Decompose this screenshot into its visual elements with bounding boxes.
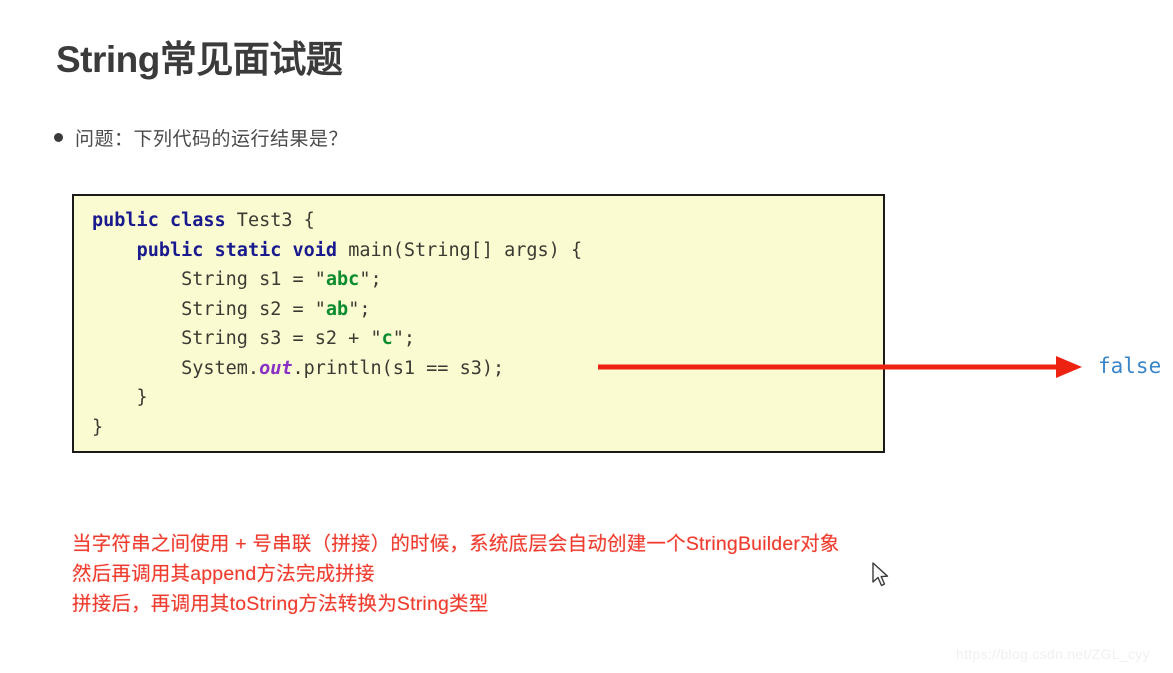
page-title: String常见面试题 — [56, 29, 342, 83]
code-token: } — [92, 387, 148, 408]
code-token: " — [359, 269, 370, 290]
result-output-label: false — [1098, 354, 1161, 378]
code-token: c — [382, 328, 393, 349]
note-line: 然后再调用其append方法完成拼接 — [72, 559, 839, 589]
code-line: public class Test3 { — [92, 206, 582, 236]
code-token: void — [293, 240, 338, 261]
code-token: String s1 = — [92, 269, 315, 290]
code-line: String s2 = "ab"; — [92, 295, 582, 325]
explanation-notes: 当字符串之间使用 + 号串联（拼接）的时候，系统底层会自动创建一个StringB… — [72, 529, 839, 619]
code-token: ; — [359, 299, 370, 320]
bullet-dot-icon — [54, 133, 63, 142]
code-token: .println(s1 == s3); — [293, 358, 505, 379]
question-label: 问题：下列代码的运行结果是？ — [75, 124, 348, 151]
code-line: System.out.println(s1 == s3); — [92, 354, 582, 384]
code-token: main(String[] args) { — [337, 240, 582, 261]
code-block: public class Test3 { public static void … — [72, 194, 885, 453]
code-content: public class Test3 { public static void … — [92, 206, 582, 442]
code-token: abc — [326, 269, 359, 290]
code-token: " — [315, 269, 326, 290]
note-line: 拼接后，再调用其toString方法转换为String类型 — [72, 589, 839, 619]
code-token: public — [137, 240, 204, 261]
code-token: String s2 = — [92, 299, 315, 320]
code-token: ab — [326, 299, 348, 320]
code-token: Test3 { — [226, 210, 315, 231]
code-line: public static void main(String[] args) { — [92, 236, 582, 266]
code-token: " — [370, 328, 381, 349]
code-token: " — [393, 328, 404, 349]
question-row: 问题：下列代码的运行结果是？ — [54, 124, 348, 151]
note-line: 当字符串之间使用 + 号串联（拼接）的时候，系统底层会自动创建一个StringB… — [72, 529, 839, 559]
mouse-pointer-icon — [872, 562, 890, 588]
code-token: static — [215, 240, 282, 261]
code-token — [203, 240, 214, 261]
code-token — [281, 240, 292, 261]
code-token: ; — [370, 269, 381, 290]
code-token — [92, 240, 137, 261]
code-line: } — [92, 413, 582, 443]
code-token: String s3 = s2 + — [92, 328, 370, 349]
code-token: class — [170, 210, 226, 231]
code-line: } — [92, 383, 582, 413]
code-token: public — [92, 210, 159, 231]
code-token: ; — [404, 328, 415, 349]
code-token: } — [92, 417, 103, 438]
watermark: https://blog.csdn.net/ZGL_cyy — [956, 646, 1150, 662]
code-token: out — [259, 358, 292, 379]
code-token: System. — [92, 358, 259, 379]
code-token: " — [348, 299, 359, 320]
code-line: String s1 = "abc"; — [92, 265, 582, 295]
code-token: " — [315, 299, 326, 320]
code-line: String s3 = s2 + "c"; — [92, 324, 582, 354]
code-token — [159, 210, 170, 231]
